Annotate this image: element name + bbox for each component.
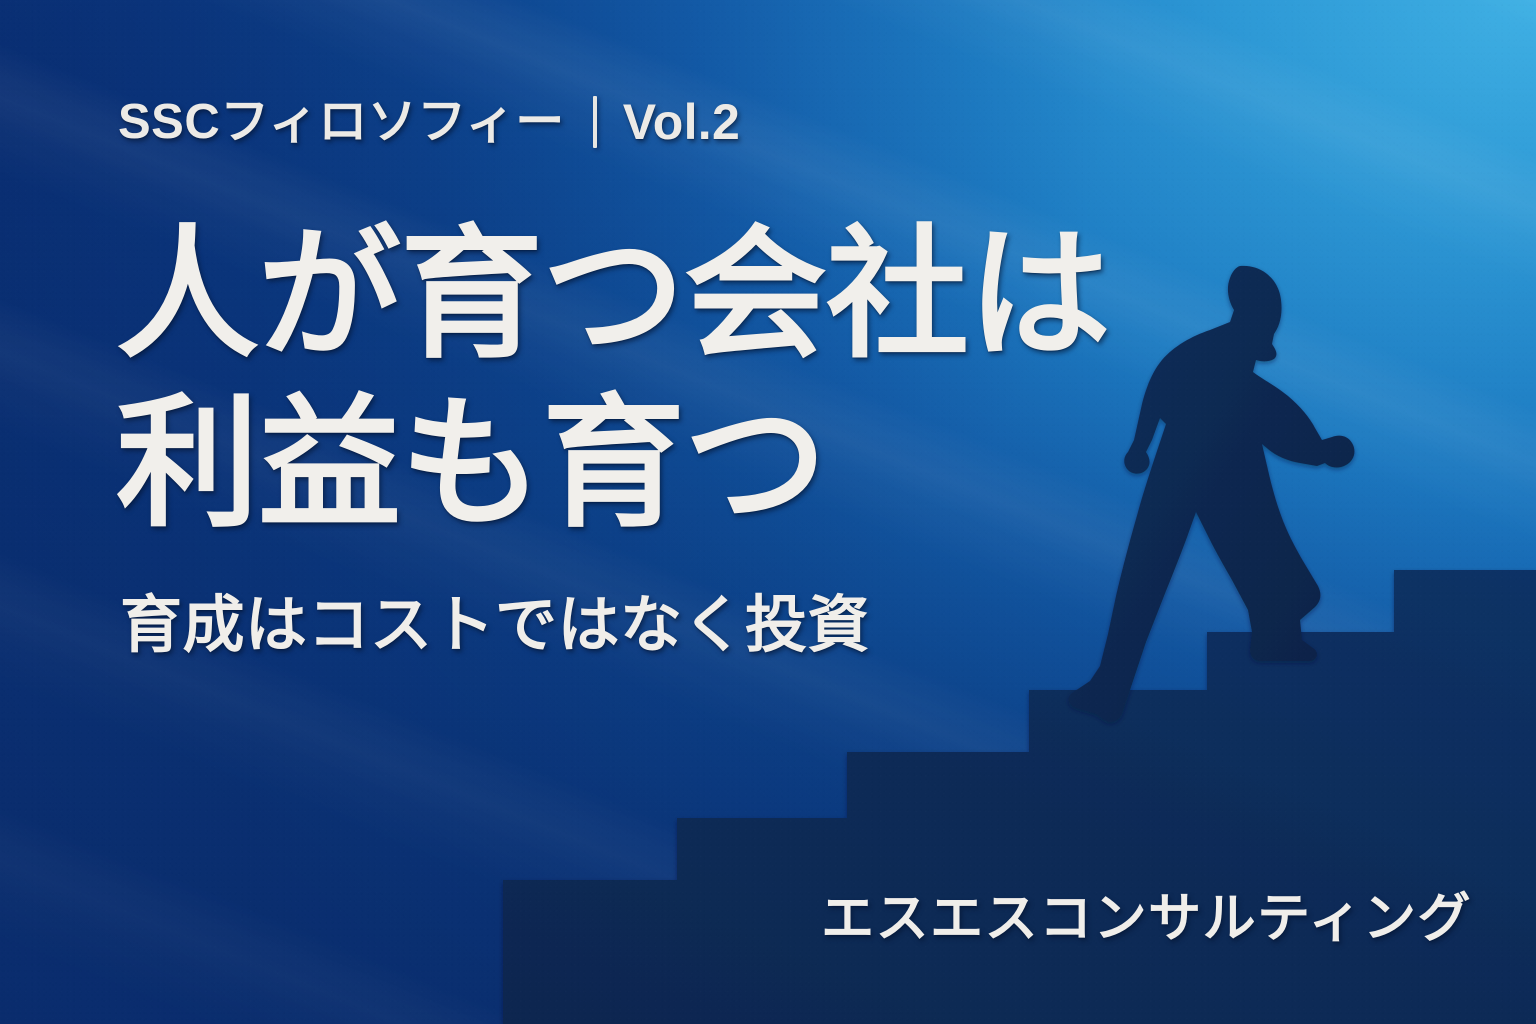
volume-label: Vol.2 — [623, 97, 740, 147]
headline-line-2: 利益も育つ — [116, 381, 1176, 550]
headline-line-1: 人が育つ会社は — [116, 212, 1176, 381]
headline-block: 人が育つ会社は 利益も育つ — [116, 212, 1176, 549]
poster-canvas: SSCフィロソフィー Vol.2 人が育つ会社は 利益も育つ 育成はコストではな… — [0, 0, 1536, 1024]
series-eyebrow: SSCフィロソフィー Vol.2 — [118, 96, 740, 148]
vertical-divider-icon — [593, 96, 597, 148]
series-title: SSCフィロソフィー — [118, 98, 565, 147]
subheadline: 育成はコストではなく投資 — [120, 592, 870, 660]
company-name: エスエスコンサルティング — [821, 876, 1472, 952]
